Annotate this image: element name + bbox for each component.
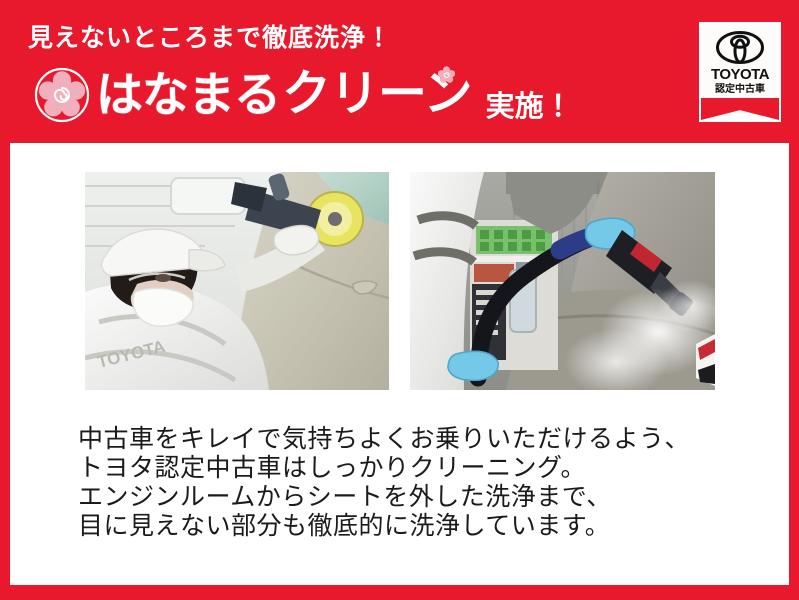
body-line-4: 目に見えない部分も徹底的に洗浄しています。 (78, 512, 768, 541)
toyota-certified-badge: TOYOTA 認定中古車 (699, 22, 781, 122)
body-line-1: 中古車をキレイで気持ちよくお乗りいただけるよう、 (78, 425, 768, 454)
brand-name-katakana-wrap: クリーン (282, 70, 472, 119)
brand-name-hiragana: はなまる (96, 71, 280, 118)
hanamaru-flower-icon (34, 67, 90, 123)
body-copy: 中古車をキレイで気持ちよくお乗りいただけるよう、 トヨタ認定中古車はしっかりクリ… (78, 425, 768, 541)
toyota-wordmark: TOYOTA (711, 67, 769, 82)
body-line-2: トヨタ認定中古車はしっかりクリーニング。 (78, 454, 768, 483)
promo-poster: 見えないところまで徹底洗浄！ はなまる クリーン (0, 0, 799, 600)
header-band: 見えないところまで徹底洗浄！ はなまる クリーン (0, 0, 799, 143)
toyota-certification-text: 認定中古車 (715, 85, 765, 95)
body-line-3: エンジンルームからシートを外した洗浄まで、 (78, 483, 768, 512)
toyota-emblem-icon (716, 31, 764, 64)
status-label: 実施！ (486, 93, 573, 122)
photo-gallery: TOYOTA (85, 172, 715, 390)
headline-text: 見えないところまで徹底洗浄！ (28, 26, 392, 51)
badge-chevron (701, 98, 779, 120)
content-panel: TOYOTA (10, 143, 789, 585)
photo-polishing: TOYOTA (85, 172, 389, 390)
photo-steam-cleaning (410, 172, 715, 390)
brand-lockup: はなまる クリーン (96, 62, 573, 126)
small-plum-flower-icon (438, 66, 455, 83)
